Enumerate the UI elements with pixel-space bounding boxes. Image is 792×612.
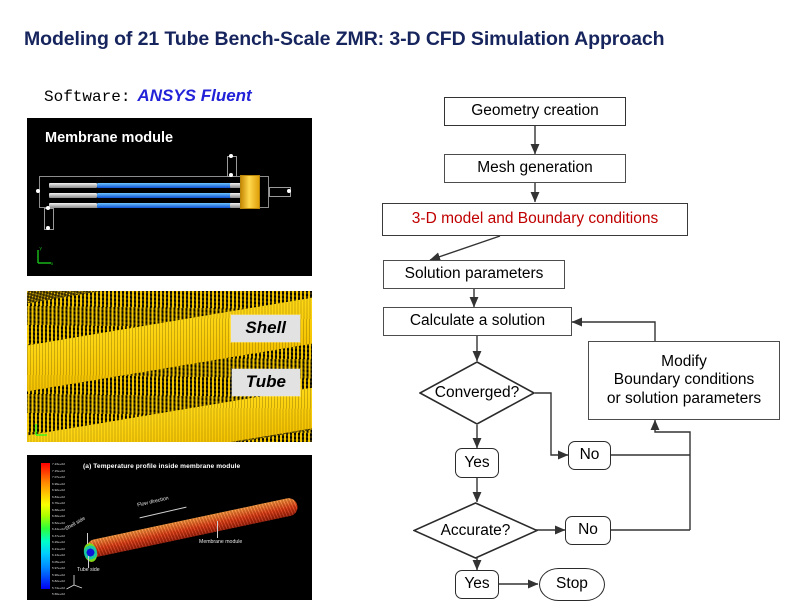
- node-converged-no[interactable]: No: [568, 441, 611, 470]
- node-accurate-decision[interactable]: Accurate?: [413, 502, 538, 559]
- node-geometry-creation[interactable]: Geometry creation: [444, 97, 626, 126]
- node-converged-label: Converged?: [435, 384, 519, 402]
- node-accurate-yes[interactable]: Yes: [455, 570, 499, 599]
- node-stop[interactable]: Stop: [539, 568, 605, 601]
- node-modify-parameters[interactable]: Modify Boundary conditions or solution p…: [588, 341, 780, 420]
- node-converged-decision[interactable]: Converged?: [419, 361, 535, 425]
- slide-canvas: Modeling of 21 Tube Bench-Scale ZMR: 3-D…: [0, 0, 792, 612]
- node-3d-model-boundary-conditions[interactable]: 3-D model and Boundary conditions: [382, 203, 688, 236]
- node-calculate-solution[interactable]: Calculate a solution: [383, 307, 572, 336]
- node-accurate-label: Accurate?: [441, 522, 511, 540]
- node-accurate-no[interactable]: No: [565, 516, 611, 545]
- node-mesh-generation[interactable]: Mesh generation: [444, 154, 626, 183]
- node-modify-line-2: Boundary conditions: [614, 371, 754, 389]
- cfd-workflow-flowchart: Geometry creation Mesh generation 3-D mo…: [0, 0, 792, 612]
- node-modify-line-3: or solution parameters: [607, 390, 761, 408]
- node-converged-yes[interactable]: Yes: [455, 448, 499, 478]
- flowchart-connectors: [0, 0, 792, 612]
- node-modify-line-1: Modify: [661, 353, 707, 371]
- node-solution-parameters[interactable]: Solution parameters: [383, 260, 565, 289]
